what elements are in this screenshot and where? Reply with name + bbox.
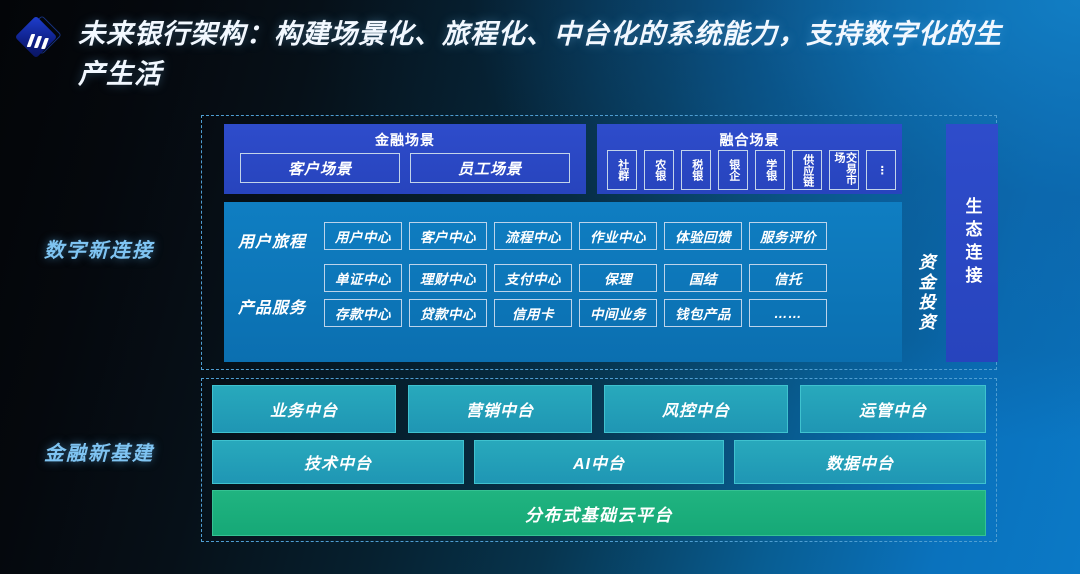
product-box-document-center[interactable]: 单证中心: [324, 264, 402, 292]
platform-box-ops-midend[interactable]: 运管中台: [800, 385, 986, 433]
fusion-chip-supply-chain[interactable]: 供应链: [792, 150, 822, 190]
fusion-chip-edu-bank[interactable]: 学银: [755, 150, 785, 190]
brand-logo-icon: [17, 18, 61, 62]
financial-infrastructure-section: 业务中台 营销中台 风控中台 运管中台 技术中台 AI中台 数据中台 分布式基础…: [212, 385, 986, 535]
page-header: 未来银行架构：构建场景化、旅程化、中台化的系统能力，支持数字化的生产生活: [0, 0, 1080, 108]
product-box-trust[interactable]: 信托: [749, 264, 827, 292]
journey-box-operation-center[interactable]: 作业中心: [579, 222, 657, 250]
page-title: 未来银行架构：构建场景化、旅程化、中台化的系统能力，支持数字化的生产生活: [78, 14, 1008, 94]
eco-connection-panel[interactable]: 生态连接: [946, 124, 998, 362]
scenario-chip-customer[interactable]: 客户场景: [240, 153, 400, 183]
fusion-chip-more-ellipsis-icon[interactable]: ⋮: [866, 150, 896, 190]
fusion-scenario-title: 融合场景: [597, 130, 902, 150]
fusion-scenario-panel: 融合场景 社群 农银 税银 银企 学银 供应链 交易市场 ⋮: [597, 124, 902, 194]
scenario-row: 金融场景 客户场景 员工场景 融合场景 社群 农银 税银 银企 学银 供应链 交…: [212, 124, 986, 196]
fusion-chip-trading-market[interactable]: 交易市场: [829, 150, 859, 190]
journey-box-process-center[interactable]: 流程中心: [494, 222, 572, 250]
digital-connection-section: 金融场景 客户场景 员工场景 融合场景 社群 农银 税银 银企 学银 供应链 交…: [212, 124, 986, 362]
journey-box-customer-center[interactable]: 客户中心: [409, 222, 487, 250]
platform-box-ai-midend[interactable]: AI中台: [474, 440, 724, 484]
capability-band: 用户旅程 用户中心 客户中心 流程中心 作业中心 体验回馈 服务评价 产品服务 …: [224, 202, 902, 362]
distributed-cloud-platform-bar[interactable]: 分布式基础云平台: [212, 490, 986, 536]
finance-scenario-panel: 金融场景 客户场景 员工场景: [224, 124, 586, 194]
product-box-factoring[interactable]: 保理: [579, 264, 657, 292]
platform-box-risk-midend[interactable]: 风控中台: [604, 385, 788, 433]
journey-box-service-rating[interactable]: 服务评价: [749, 222, 827, 250]
capital-investment-label: 资金投资: [912, 234, 938, 352]
fusion-chip-community[interactable]: 社群: [607, 150, 637, 190]
logo-slashes: [27, 33, 53, 51]
journey-box-experience-feedback[interactable]: 体验回馈: [664, 222, 742, 250]
product-box-intermediary[interactable]: 中间业务: [579, 299, 657, 327]
platform-box-data-midend[interactable]: 数据中台: [734, 440, 986, 484]
product-box-deposit-center[interactable]: 存款中心: [324, 299, 402, 327]
product-box-intl-settlement[interactable]: 国结: [664, 264, 742, 292]
section-label-digital-connection: 数字新连接: [44, 234, 154, 263]
product-box-loan-center[interactable]: 贷款中心: [409, 299, 487, 327]
scenario-chip-staff[interactable]: 员工场景: [410, 153, 570, 183]
fusion-chip-tax-bank[interactable]: 税银: [681, 150, 711, 190]
product-box-credit-card[interactable]: 信用卡: [494, 299, 572, 327]
product-box-wallet-product[interactable]: 钱包产品: [664, 299, 742, 327]
platform-box-tech-midend[interactable]: 技术中台: [212, 440, 464, 484]
product-box-wealth-center[interactable]: 理财中心: [409, 264, 487, 292]
product-services-label: 产品服务: [238, 294, 306, 318]
finance-scenario-title: 金融场景: [224, 130, 586, 150]
platform-box-business-midend[interactable]: 业务中台: [212, 385, 396, 433]
section-label-financial-infrastructure: 金融新基建: [44, 437, 154, 466]
product-box-more-ellipsis[interactable]: ……: [749, 299, 827, 327]
fusion-chip-agri-bank[interactable]: 农银: [644, 150, 674, 190]
user-journey-label: 用户旅程: [238, 228, 306, 252]
journey-box-user-center[interactable]: 用户中心: [324, 222, 402, 250]
fusion-chip-bank-enterprise[interactable]: 银企: [718, 150, 748, 190]
product-box-payment-center[interactable]: 支付中心: [494, 264, 572, 292]
platform-box-marketing-midend[interactable]: 营销中台: [408, 385, 592, 433]
